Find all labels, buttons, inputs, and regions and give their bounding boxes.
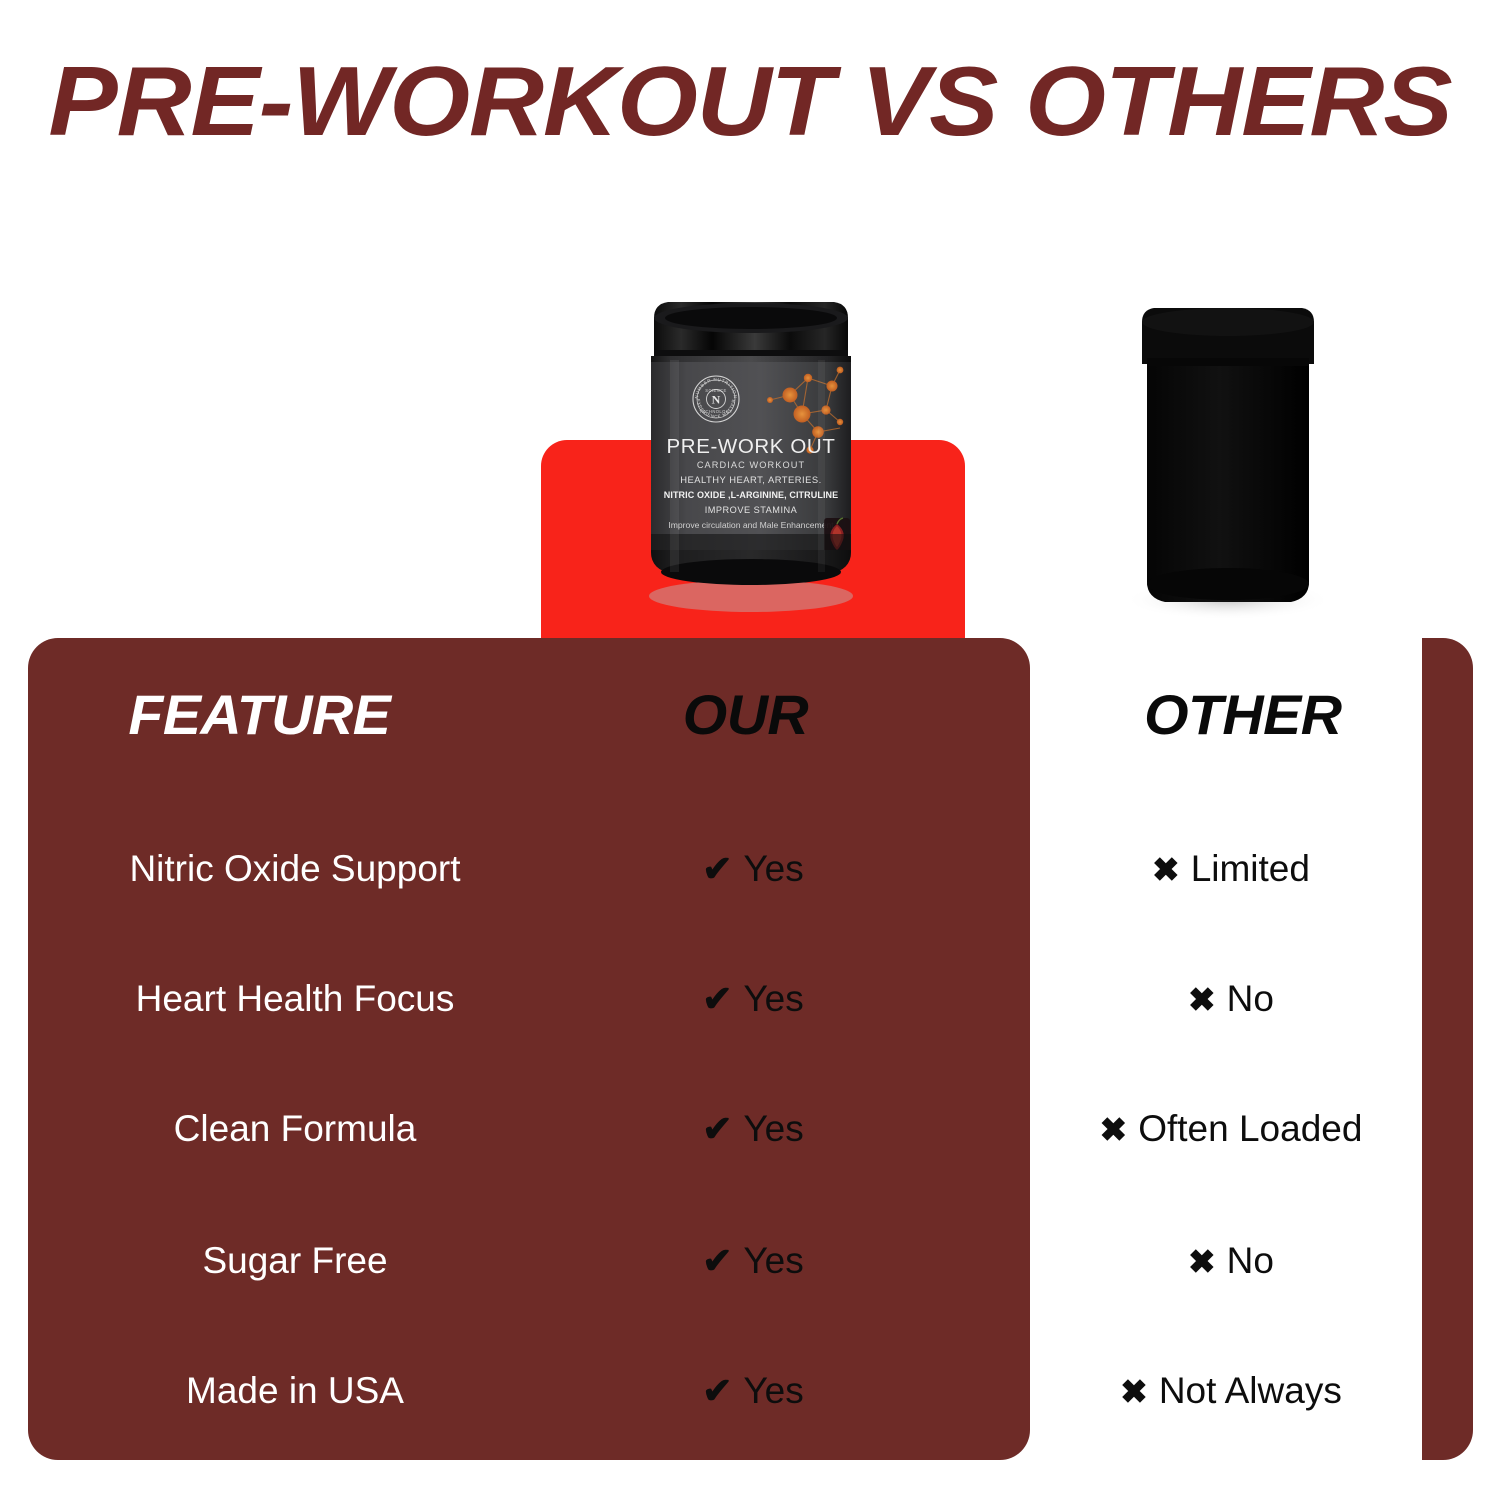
page-title: PRE-WORKOUT VS OTHERS xyxy=(0,52,1500,150)
cell-other: ✖ Often Loaded xyxy=(1040,1063,1422,1195)
cell-other-value: No xyxy=(1227,1240,1274,1282)
right-accent-bar xyxy=(1422,638,1473,1460)
cell-other: ✖ No xyxy=(1040,1195,1422,1327)
cell-other: ✖ No xyxy=(1040,933,1422,1065)
bottle-line2: NITRIC OXIDE ,L-ARGININE, CITRULINE xyxy=(664,490,839,500)
bottle-line1: HEALTHY HEART, ARTERIES. xyxy=(680,474,822,485)
bottle-product-name: PRE-WORK OUT xyxy=(667,435,836,458)
cross-icon: ✖ xyxy=(1120,1375,1148,1408)
svg-text:TECHNOLOGY: TECHNOLOGY xyxy=(699,409,732,414)
cell-other-value: Often Loaded xyxy=(1138,1108,1362,1150)
bottle-line3: IMPROVE STAMINA xyxy=(705,505,798,515)
cross-icon: ✖ xyxy=(1152,853,1180,886)
cross-icon: ✖ xyxy=(1188,983,1216,1016)
cell-other: ✖ Limited xyxy=(1040,803,1422,935)
column-header-other: OTHER xyxy=(1144,682,1341,747)
feature-panel xyxy=(28,638,1030,1460)
bottle-subtitle: CARDIAC WORKOUT xyxy=(697,460,805,470)
competitor-bottle xyxy=(1120,300,1336,618)
svg-text:SCIENCE: SCIENCE xyxy=(705,388,726,393)
cross-icon: ✖ xyxy=(1188,1245,1216,1278)
cell-other-value: No xyxy=(1227,978,1274,1020)
cell-other-value: Limited xyxy=(1191,848,1310,890)
bottle-line4: Improve circulation and Male Enhancement xyxy=(668,520,834,530)
our-product-bottle: N NUMBER NUTRITION EXPERIENCE MATTER SCI… xyxy=(640,300,862,612)
cell-other: ✖ Not Always xyxy=(1040,1325,1422,1457)
svg-text:N: N xyxy=(712,393,721,407)
comparison-infographic: PRE-WORKOUT VS OTHERS xyxy=(0,0,1500,1500)
cell-other-value: Not Always xyxy=(1159,1370,1342,1412)
cross-icon: ✖ xyxy=(1100,1113,1128,1146)
